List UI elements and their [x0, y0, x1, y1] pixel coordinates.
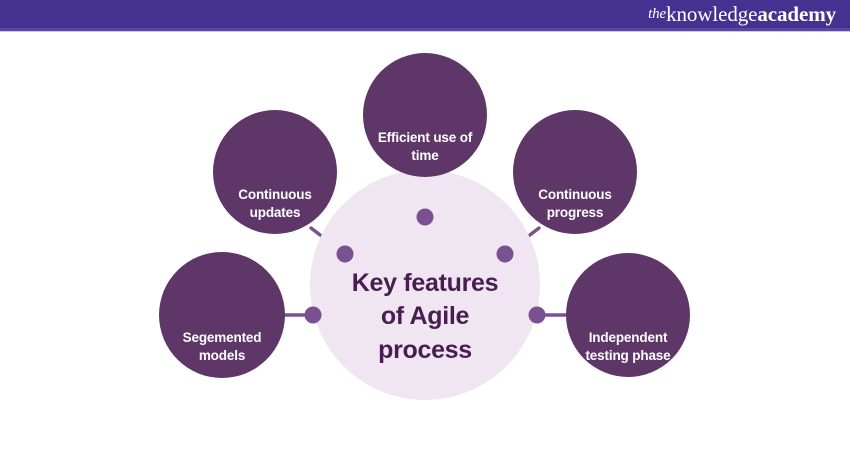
agile-features-diagram: Key features of Agile process Efficient … [0, 32, 850, 450]
connector-dot-efficient-use-of-time [417, 209, 434, 226]
node-circle-continuous-updates[interactable] [213, 110, 337, 234]
brand-logo-the: the [648, 7, 666, 22]
node-circle-efficient-use-of-time[interactable] [363, 53, 487, 177]
connector-dot-continuous-progress [497, 246, 514, 263]
page-root: theknowledgeacademy [0, 0, 850, 450]
node-circle-continuous-progress[interactable] [513, 110, 637, 234]
diagram-canvas [0, 32, 850, 450]
connector-dot-continuous-updates [337, 246, 354, 263]
hub-circle[interactable] [310, 170, 540, 400]
connector-dot-independent-testing-phase [529, 307, 546, 324]
node-circle-independent-testing-phase[interactable] [566, 253, 690, 377]
brand-logo[interactable]: theknowledgeacademy [648, 1, 836, 28]
brand-logo-knowledge: knowledge [666, 4, 757, 25]
connector-dot-segemented-models [305, 307, 322, 324]
brand-logo-academy: academy [757, 4, 836, 25]
node-circle-segemented-models[interactable] [159, 252, 285, 378]
